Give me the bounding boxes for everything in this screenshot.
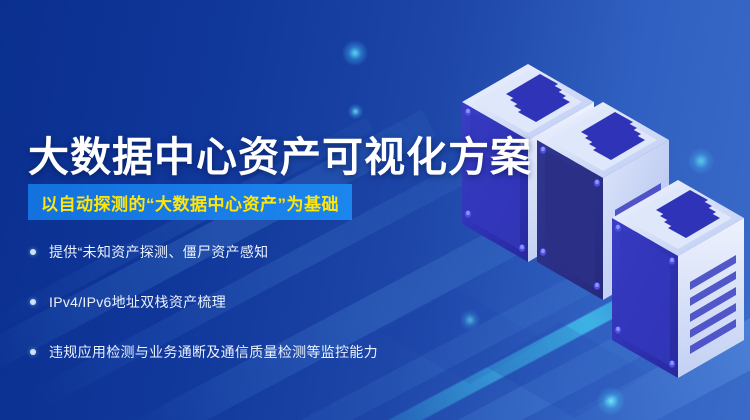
feature-list: 提供“未知资产探测、僵尸资产感知 IPv4/IPv6地址双栈资产梳理 违规应用检… — [30, 238, 430, 366]
list-item: 违规应用检测与业务通断及通信质量检测等监控能力 — [30, 338, 430, 366]
list-item: IPv4/IPv6地址双栈资产梳理 — [30, 288, 430, 316]
subtitle-banner: 以自动探测的“大数据中心资产”为基础 — [28, 184, 352, 220]
bullet-dot-icon — [30, 299, 36, 305]
list-item: 提供“未知资产探测、僵尸资产感知 — [30, 238, 430, 266]
subtitle-text: 以自动探测的“大数据中心资产”为基础 — [41, 190, 339, 215]
list-item-label: 违规应用检测与业务通断及通信质量检测等监控能力 — [49, 342, 378, 362]
data-center-banner: 大数据中心资产可视化方案 以自动探测的“大数据中心资产”为基础 提供“未知资产探… — [0, 0, 750, 420]
server-rack-right — [612, 180, 744, 378]
page-title: 大数据中心资产可视化方案 — [28, 123, 532, 183]
list-item-label: IPv4/IPv6地址双栈资产梳理 — [49, 292, 226, 312]
bullet-dot-icon — [30, 349, 36, 355]
bullet-dot-icon — [30, 249, 36, 255]
list-item-label: 提供“未知资产探测、僵尸资产感知 — [49, 242, 268, 262]
